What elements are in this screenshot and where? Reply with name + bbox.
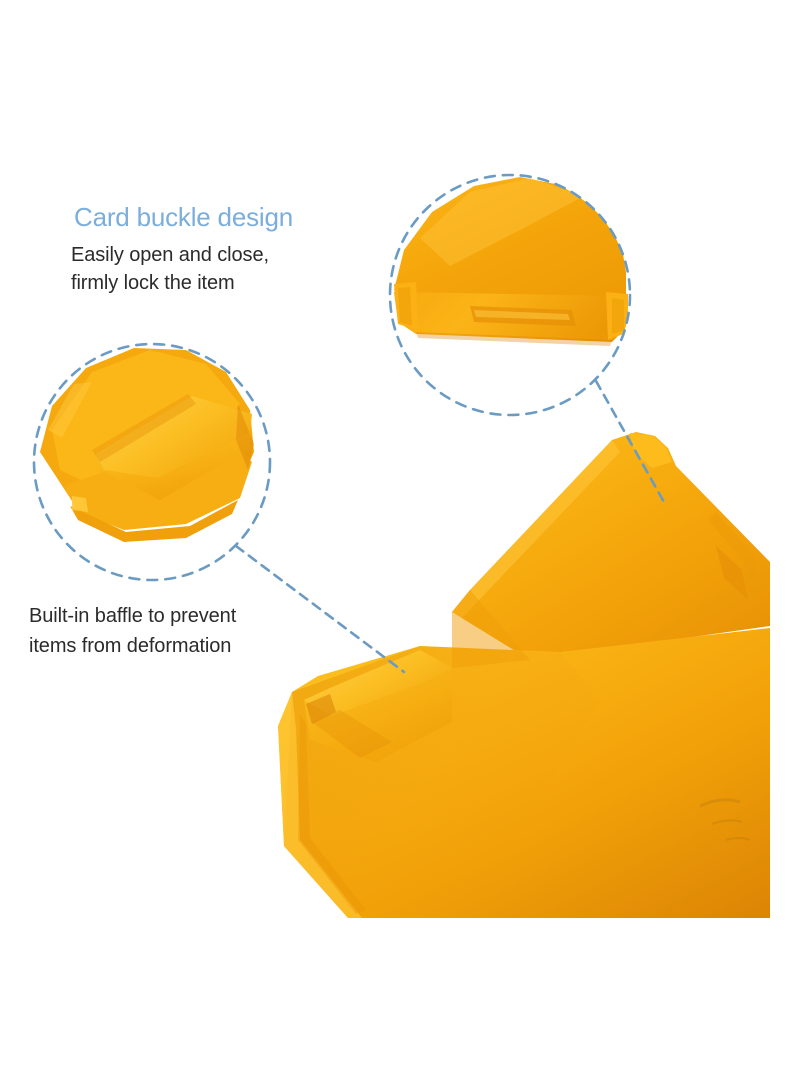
- feature-body-line-1: Easily open and close,: [71, 241, 371, 269]
- feature-baffle-line-1: Built-in baffle to prevent: [29, 601, 359, 631]
- product-infographic-page: Card buckle design Easily open and close…: [0, 0, 800, 1091]
- feature-heading-card-buckle: Card buckle design: [74, 202, 293, 233]
- product-illustration: [278, 432, 770, 918]
- infographic-artwork: [0, 0, 800, 1091]
- feature-body-line-2: firmly lock the item: [71, 269, 371, 297]
- feature-body-built-in-baffle: Built-in baffle to prevent items from de…: [29, 601, 359, 661]
- feature-body-card-buckle: Easily open and close, firmly lock the i…: [71, 241, 371, 297]
- feature-baffle-line-2: items from deformation: [29, 631, 359, 661]
- product-base-tray: [278, 628, 770, 918]
